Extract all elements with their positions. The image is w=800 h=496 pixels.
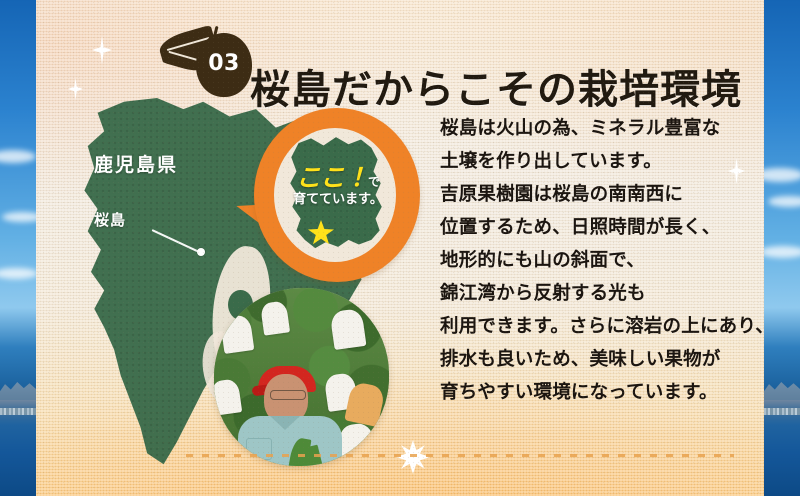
section-number: 03 xyxy=(204,49,244,79)
sparkle-icon xyxy=(396,440,430,474)
sea-and-coastline xyxy=(764,400,800,496)
map-pointer-dot xyxy=(197,248,205,256)
left-sky-strip xyxy=(0,0,36,496)
location-callout-balloon: ここ！で 育てています。 xyxy=(252,108,422,288)
section-badge: 03 xyxy=(154,20,262,104)
sea-and-coastline xyxy=(0,400,36,496)
copy-line: 位置するため、日照時間が長く、 xyxy=(440,211,764,244)
cloud-shape xyxy=(764,168,800,182)
copy-line: 地形的にも山の斜面で、 xyxy=(440,244,764,277)
cloud-shape xyxy=(2,212,36,222)
eyeglasses xyxy=(270,390,306,400)
callout-subtitle: 育てています。 xyxy=(282,188,394,207)
cloud-shape xyxy=(764,246,800,258)
farmer-photo xyxy=(214,288,389,466)
paper-panel: 03 桜島だからこその栽培環境 鹿児島県 桜島 ここ！で xyxy=(36,0,764,496)
right-sky-strip xyxy=(764,0,800,496)
copy-line: 排水も良いため、美味しい果物が xyxy=(440,343,764,376)
dashed-divider xyxy=(186,454,734,457)
cloud-shape xyxy=(0,268,36,279)
map-label-island: 桜島 xyxy=(94,209,126,230)
sparkle-icon xyxy=(92,36,112,64)
copy-line: 土壌を作り出しています。 xyxy=(440,145,764,178)
callout-highlight-suffix: で xyxy=(368,175,380,189)
copy-line: 利用できます。さらに溶岩の上にあり、 xyxy=(440,310,764,343)
body-copy: 桜島は火山の為、ミネラル豊富な 土壌を作り出しています。 吉原果樹園は桜島の南南… xyxy=(440,112,764,409)
copy-line: 育ちやすい環境になっています。 xyxy=(440,376,764,409)
map-label-prefecture: 鹿児島県 xyxy=(94,150,178,177)
copy-line: 吉原果樹園は桜島の南南西に xyxy=(440,178,764,211)
copy-line: 錦江湾から反射する光も xyxy=(440,277,764,310)
copy-line: 桜島は火山の為、ミネラル豊富な xyxy=(440,112,764,145)
sparkle-icon xyxy=(68,78,83,100)
poster-canvas: 03 桜島だからこその栽培環境 鹿児島県 桜島 ここ！で xyxy=(0,0,800,496)
